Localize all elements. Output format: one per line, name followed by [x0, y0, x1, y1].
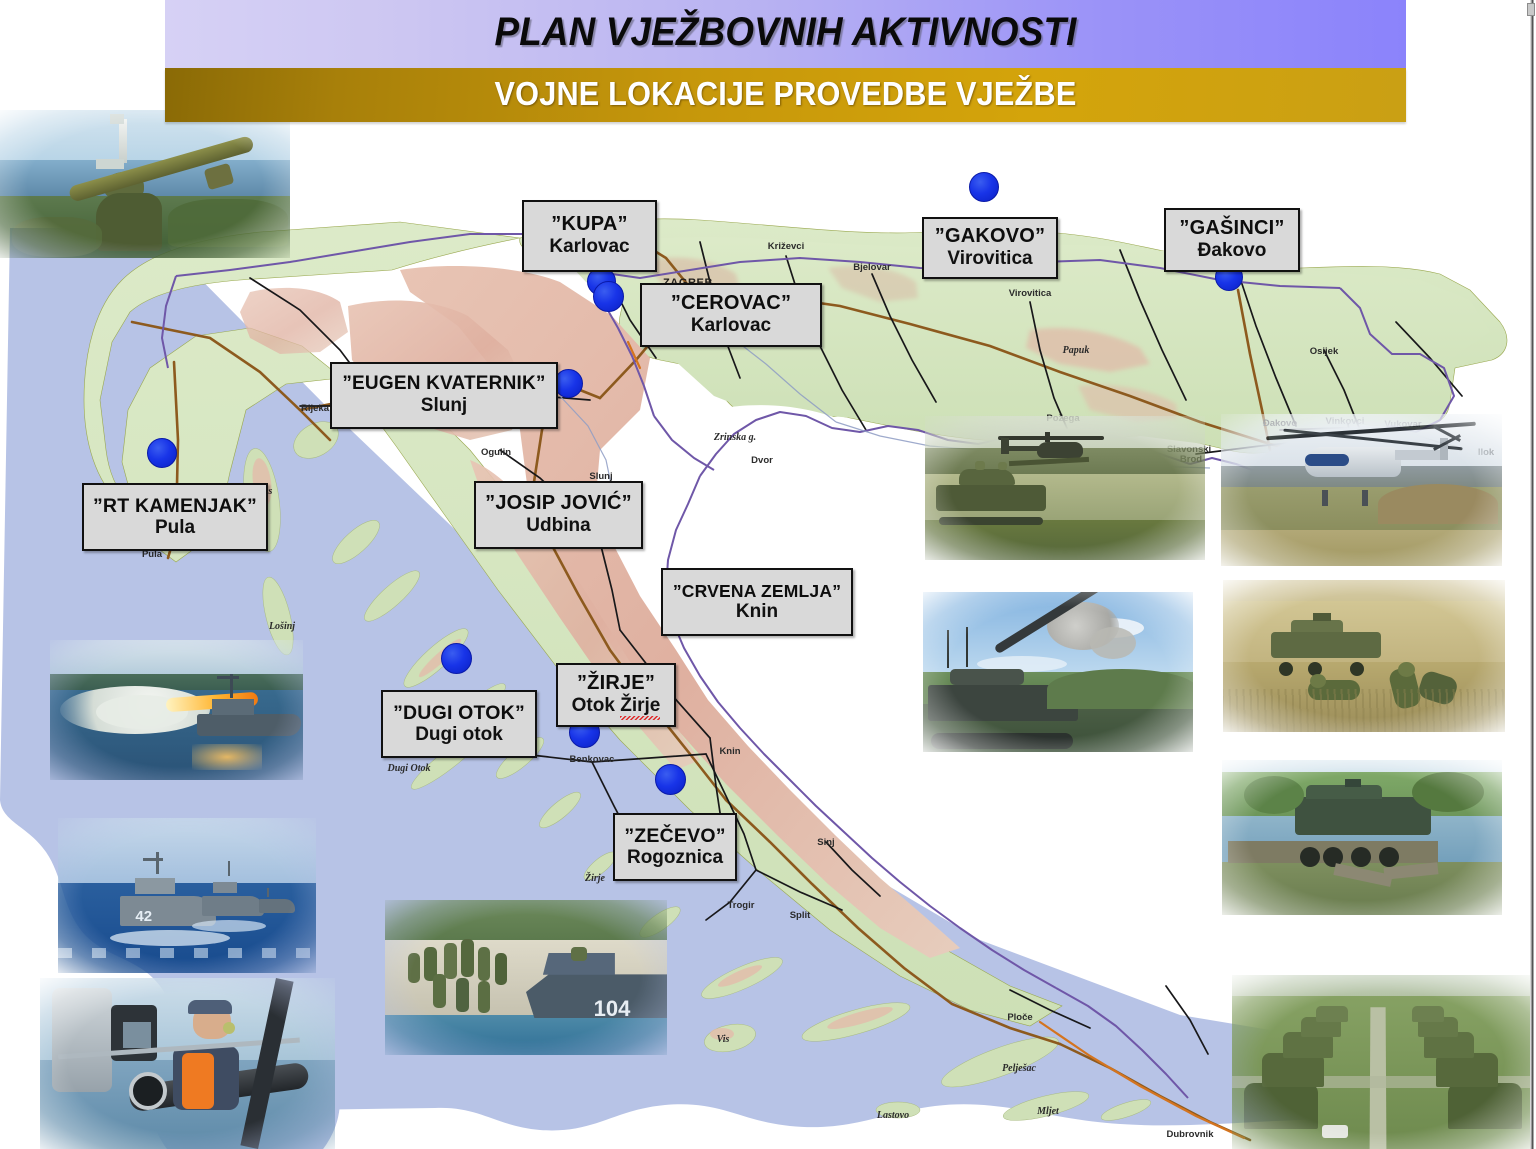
callout-dugi-otok[interactable]: ”DUGI OTOK”Dugi otok: [381, 690, 537, 758]
slide-canvas: ZAGREBKriževciBjelovarViroviticaDugoSelo…: [0, 0, 1536, 1149]
callout-place-zecevo: Rogoznica: [627, 847, 723, 868]
callout-name-josip-jovic: ”JOSIP JOVIĆ”: [485, 493, 632, 514]
map-place-label: Ploče: [1007, 1012, 1032, 1023]
window-scrollbar[interactable]: [1530, 0, 1534, 1149]
callout-place-gasinci: Đakovo: [1198, 240, 1267, 261]
map-island-label: Lastovo: [876, 1110, 909, 1121]
callout-place-crvena-zemlja: Knin: [736, 601, 778, 622]
title-banner: PLAN VJEŽBOVNIH AKTIVNOSTI: [165, 0, 1406, 68]
location-marker-zecevo[interactable]: [655, 764, 686, 795]
callout-eugen-kvaternik[interactable]: ”EUGEN KVATERNIK”Slunj: [330, 362, 558, 429]
page-subtitle: VOJNE LOKACIJE PROVEDBE VJEŽBE: [208, 68, 1362, 120]
callout-name-gakovo: ”GAKOVO”: [935, 226, 1046, 247]
callout-place-gakovo: Virovitica: [947, 248, 1032, 269]
map-place-label: Knin: [719, 746, 740, 757]
callout-place-kupa: Karlovac: [549, 236, 629, 257]
callout-name-rt-kamenjak: ”RT KAMENJAK”: [93, 496, 257, 517]
callout-name-kupa: ”KUPA”: [551, 214, 627, 235]
map-island-label: Žirje: [584, 872, 606, 884]
map-island-label: Vis: [717, 1034, 730, 1045]
callout-rt-kamenjak[interactable]: ”RT KAMENJAK”Pula: [82, 483, 268, 551]
callout-name-crvena-zemlja: ”CRVENA ZEMLJA”: [673, 582, 841, 601]
map-place-label: Križevci: [768, 241, 804, 252]
photo-apc-river-ferry: [1222, 760, 1502, 915]
location-marker-rt-kamenjak[interactable]: [147, 438, 177, 468]
callout-kupa[interactable]: ”KUPA”Karlovac: [522, 200, 657, 272]
callout-gakovo[interactable]: ”GAKOVO”Virovitica: [922, 217, 1058, 279]
callout-name-zirje: ”ŽIRJE”: [577, 673, 655, 694]
photo-transport-helicopter: [1221, 414, 1502, 566]
map-island-label: Mljet: [1036, 1106, 1060, 1117]
callout-zirje[interactable]: ”ŽIRJE”Otok Žirje: [556, 663, 676, 727]
map-place-label: Virovitica: [1009, 288, 1052, 299]
callout-name-cerovac: ”CEROVAC”: [671, 293, 791, 314]
map-island-label: Dugi Otok: [386, 763, 430, 774]
map-place-label: Rijeka: [301, 403, 330, 414]
callout-place-rt-kamenjak: Pula: [155, 517, 195, 538]
callout-name-zecevo: ”ZEČEVO”: [624, 826, 725, 847]
map-place-label: Dvor: [751, 455, 773, 466]
location-marker-gakovo[interactable]: [969, 172, 999, 202]
map-place-label: Sinj: [817, 837, 834, 848]
location-marker-cerovac[interactable]: [593, 281, 624, 312]
photo-apc-infantry: [1223, 580, 1505, 732]
callout-place-zirje: Otok Žirje: [572, 695, 661, 716]
callout-name-dugi-otok: ”DUGI OTOK”: [393, 703, 525, 724]
callout-name-eugen-kvaternik: ”EUGEN KVATERNIK”: [342, 374, 545, 394]
photo-manpads-lighthouse: [0, 110, 290, 258]
callout-zecevo[interactable]: ”ZEČEVO”Rogoznica: [613, 813, 737, 881]
map-place-label: Benkovac: [570, 754, 615, 765]
callout-cerovac[interactable]: ”CEROVAC”Karlovac: [640, 283, 822, 347]
photo-tank-helicopter: [925, 416, 1205, 560]
callout-name-gasinci: ”GAŠINCI”: [1179, 218, 1284, 239]
map-island-label: Papuk: [1063, 345, 1090, 356]
map-place-label: Trogir: [728, 900, 755, 911]
map-island-label: Pelješac: [1002, 1063, 1036, 1074]
subtitle-banner: VOJNE LOKACIJE PROVEDBE VJEŽBE: [165, 68, 1406, 122]
callout-josip-jovic[interactable]: ”JOSIP JOVIĆ”Udbina: [474, 481, 643, 549]
map-place-label: Split: [790, 910, 811, 921]
map-island-label: Lošinj: [268, 621, 295, 632]
map-place-label: Ogulin: [481, 447, 511, 458]
map-island-label: Zrinska g.: [713, 432, 756, 443]
photo-landing-craft-104: 104: [385, 900, 667, 1055]
photo-howitzer-firing: [923, 592, 1193, 752]
photo-tent-camp: [1232, 975, 1532, 1149]
photo-missile-boat: [50, 640, 303, 780]
spellcheck-underline: Žirje: [620, 695, 660, 716]
photo-sailor-gun-mount: [40, 978, 335, 1149]
callout-place-dugi-otok: Dugi otok: [415, 724, 503, 745]
callout-place-josip-jovic: Udbina: [526, 515, 590, 536]
callout-gasinci[interactable]: ”GAŠINCI”Đakovo: [1164, 208, 1300, 272]
photo-navy-ships-formation: 42: [58, 818, 316, 973]
callout-place-cerovac: Karlovac: [691, 315, 771, 336]
scrollbar-thumb[interactable]: [1527, 3, 1535, 16]
map-place-label: Osijek: [1310, 346, 1339, 357]
map-place-label: Bjelovar: [853, 262, 891, 273]
location-marker-dugi-otok[interactable]: [441, 643, 472, 674]
callout-place-eugen-kvaternik: Slunj: [421, 395, 467, 416]
map-place-label: Dubrovnik: [1167, 1129, 1215, 1140]
page-title: PLAN VJEŽBOVNIH AKTIVNOSTI: [215, 2, 1357, 62]
callout-crvena-zemlja[interactable]: ”CRVENA ZEMLJA”Knin: [661, 568, 853, 636]
